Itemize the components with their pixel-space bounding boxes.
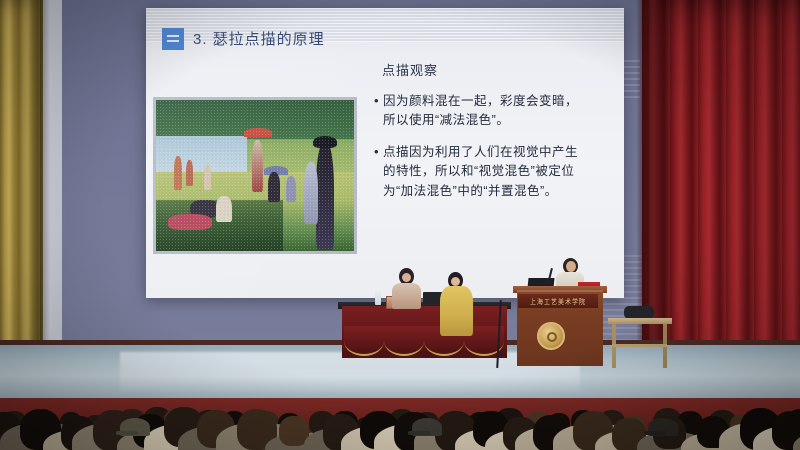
bullet-marker: • <box>374 92 383 131</box>
bullet-text: 因为颜料混在一起，彩度会变暗，所以使用“减法混色”。 <box>383 92 580 131</box>
slide-bullet-list: • 因为颜料混在一起，彩度会变暗，所以使用“减法混色”。 • 点描因为利用了人们… <box>374 92 580 213</box>
presenter-seated-left <box>391 268 421 308</box>
side-table-brace <box>612 344 667 347</box>
slide-bullet-item: • 点描因为利用了人们在视觉中产生的特性，所以和“视觉混色”被定位为“加法混色”… <box>374 143 580 201</box>
slide-subheading: 点描观察 <box>382 60 438 79</box>
seurat-la-grande-jatte-painting <box>153 97 357 254</box>
list-square-icon <box>162 28 184 50</box>
podium-banner: 上海工艺美术学院 <box>518 294 598 308</box>
slide-title: 3. 瑟拉点描的原理 <box>193 28 325 49</box>
red-curtain-right-shadow <box>637 0 649 396</box>
gold-curtain-left-shadow <box>40 0 50 378</box>
water-bottle <box>375 288 381 305</box>
presenter-torso <box>440 286 473 336</box>
painting-pointillist-dots <box>156 100 354 251</box>
stage-floor-reflection <box>120 352 580 392</box>
speaker-face <box>566 261 576 272</box>
slide-bullet-item: • 因为颜料混在一起，彩度会变暗，所以使用“减法混色”。 <box>374 92 580 131</box>
bullet-marker: • <box>374 143 383 201</box>
bullet-text: 点描因为利用了人们在视觉中产生的特性，所以和“视觉混色”被定位为“加法混色”中的… <box>383 143 580 201</box>
presenter-face <box>402 273 411 282</box>
audience-member-cap <box>648 418 678 436</box>
audience-member-cap <box>412 418 442 436</box>
podium-banner-text: 上海工艺美术学院 <box>530 296 586 306</box>
gold-curtain-left <box>0 0 43 378</box>
audience <box>0 392 800 450</box>
table-skirt-swag <box>344 326 505 356</box>
lecture-hall-photo: 3. 瑟拉点描的原理 点描观察 • 因为颜料混在一起，彩度会变暗，所以使用“减法… <box>0 0 800 450</box>
presenter-face <box>451 277 460 286</box>
presenter-torso <box>392 283 421 309</box>
audience-member-cap <box>120 418 150 436</box>
podium-emblem <box>537 322 565 350</box>
presenter-seated-right <box>440 272 474 336</box>
